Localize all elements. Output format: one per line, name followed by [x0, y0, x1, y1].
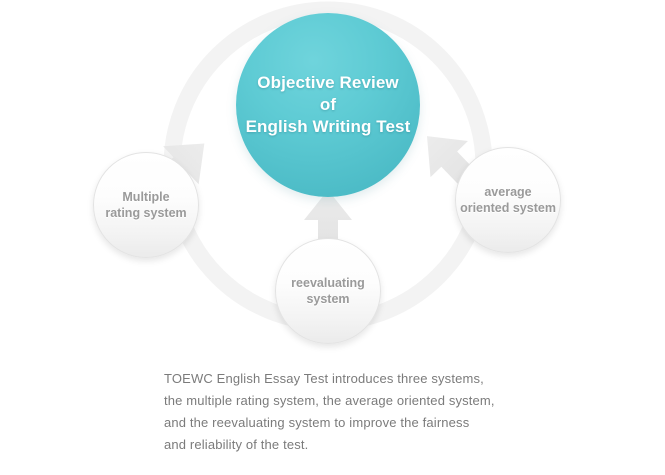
caption-text: TOEWC English Essay Test introduces thre… [164, 368, 634, 456]
average-oriented-system-label: average oriented system [460, 184, 556, 216]
caption-line-4: and reliability of the test. [164, 434, 634, 456]
caption-line-3: and the reevaluating system to improve t… [164, 412, 634, 434]
caption-line-2: the multiple rating system, the average … [164, 390, 634, 412]
reevaluating-system-label: reevaluating system [291, 275, 365, 307]
reevaluating-system-circle[interactable]: reevaluating system [275, 238, 381, 344]
objective-review-circle[interactable]: Objective Review of English Writing Test [236, 13, 420, 197]
multiple-rating-system-circle[interactable]: Multiple rating system [93, 152, 199, 258]
caption-line-1: TOEWC English Essay Test introduces thre… [164, 368, 634, 390]
diagram-canvas: Objective Review of English Writing Test… [0, 0, 665, 475]
multiple-rating-system-label: Multiple rating system [105, 189, 186, 221]
average-oriented-system-circle[interactable]: average oriented system [455, 147, 561, 253]
objective-review-label: Objective Review of English Writing Test [246, 72, 411, 138]
